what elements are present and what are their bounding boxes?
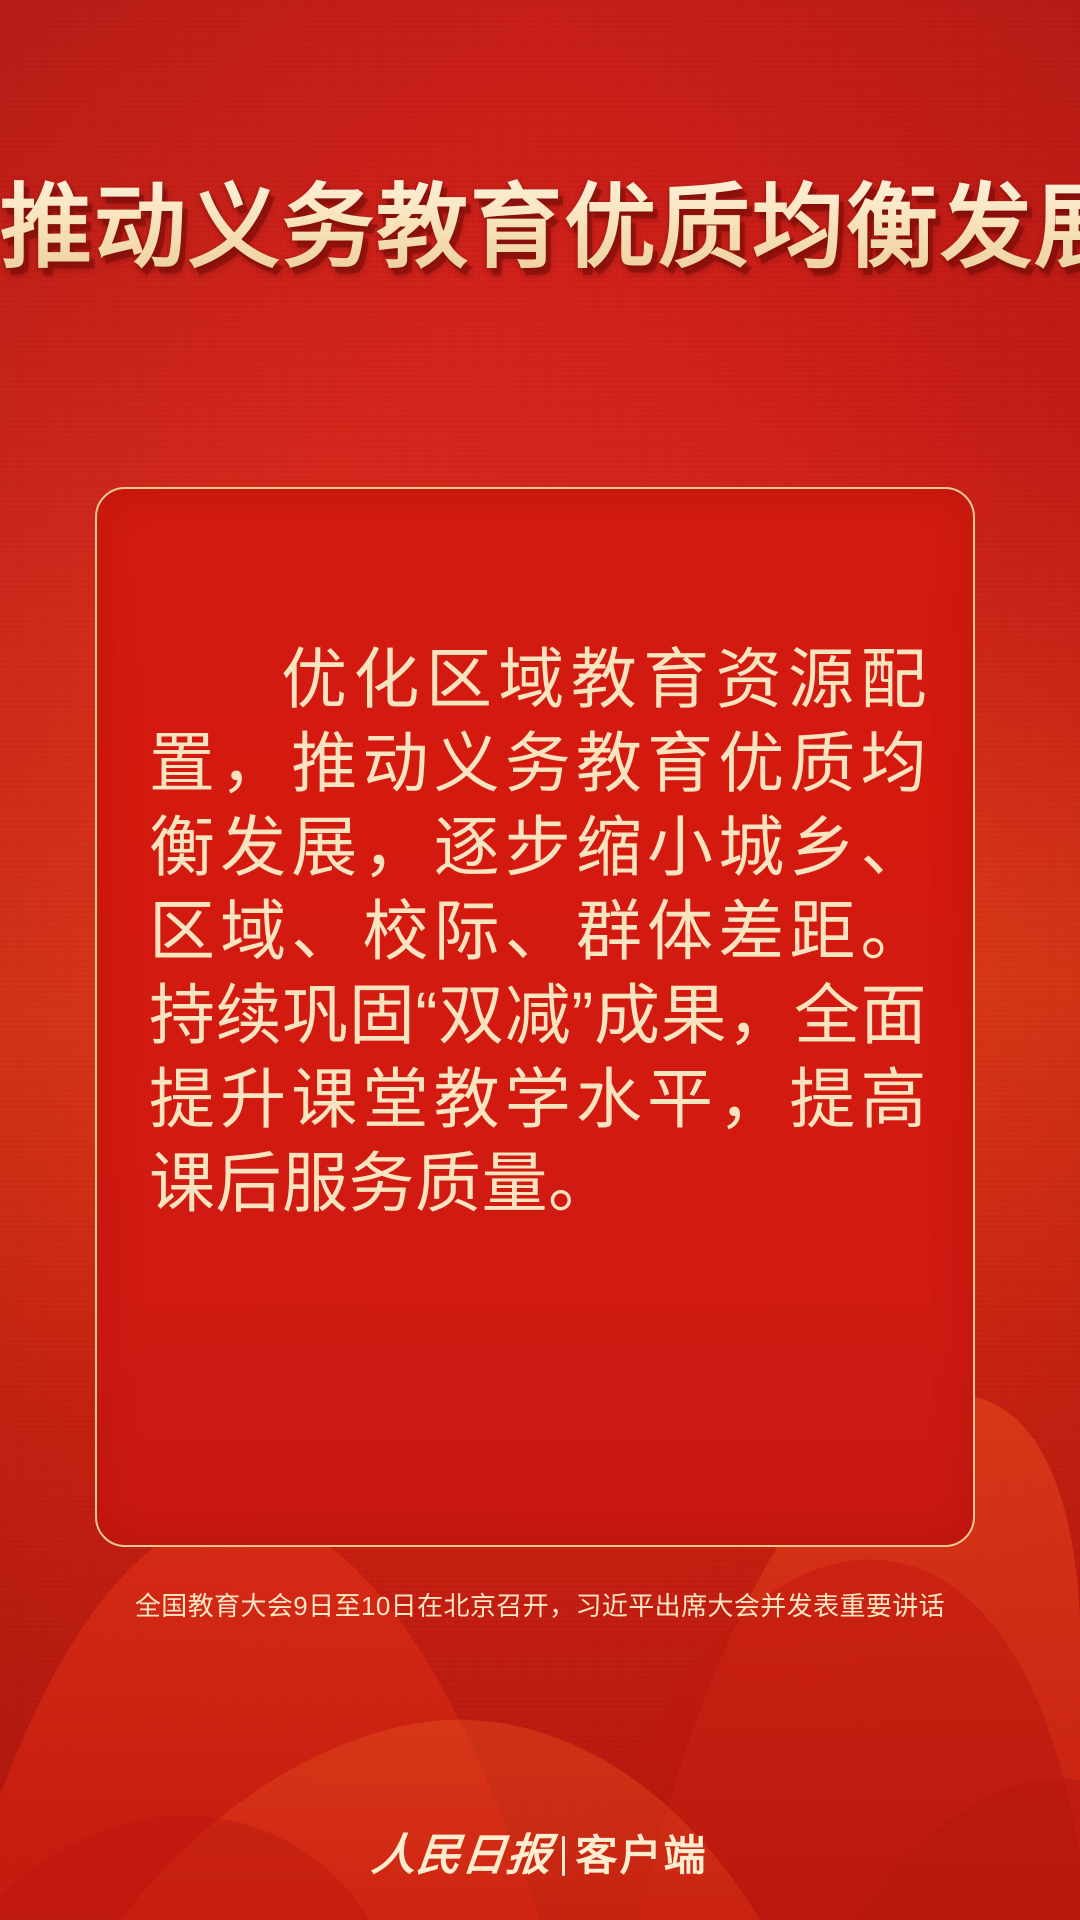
caption-text: 全国教育大会9日至10日在北京召开，习近平出席大会并发表重要讲话 bbox=[0, 1586, 1080, 1623]
poster-title-container: 推动义务教育优质均衡发展 bbox=[0, 178, 1080, 277]
peoples-daily-wordmark: 人民日报 bbox=[370, 1834, 555, 1878]
quote-card-body-text: 优化区域教育资源配置，推动义务教育优质均衡发展，逐步缩小城乡、区域、校际、群体差… bbox=[149, 637, 927, 1225]
client-app-label: 客户端 bbox=[575, 1835, 707, 1877]
poster-canvas: 推动义务教育优质均衡发展 优化区域教育资源配置，推动义务教育优质均衡发展，逐步缩… bbox=[0, 0, 1080, 1920]
footer-logo: 人民日报 客户端 bbox=[0, 1834, 1080, 1878]
logo-divider-icon bbox=[562, 1836, 565, 1876]
page-title: 推动义务教育优质均衡发展 bbox=[0, 178, 1080, 277]
quote-card: 优化区域教育资源配置，推动义务教育优质均衡发展，逐步缩小城乡、区域、校际、群体差… bbox=[95, 487, 975, 1547]
